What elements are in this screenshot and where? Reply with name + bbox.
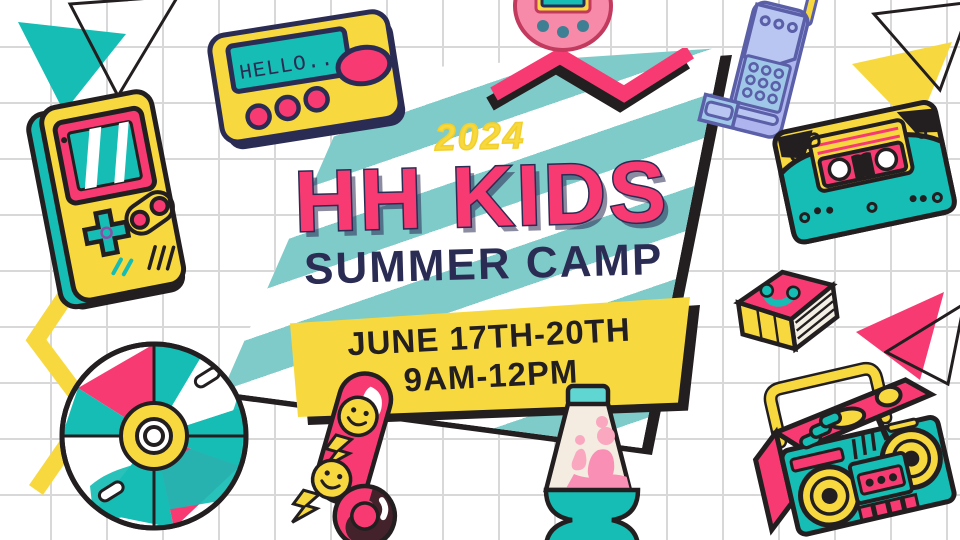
compact-disc: [54, 336, 254, 536]
cassette-tape: [776, 104, 956, 254]
smiley-slap-bracelet: [288, 372, 428, 540]
pager-device: HELLO...: [206, 8, 416, 158]
poster-canvas: 2024 HH KIDS SUMMER CAMP JUNE 17TH-20TH …: [0, 0, 960, 540]
page-title: HH KIDS: [231, 150, 733, 246]
virtual-pet-toy: [508, 0, 618, 64]
outlined-triangle-top-right: [868, 0, 960, 104]
lava-lamp: [532, 378, 652, 540]
boombox-stereo: [740, 342, 960, 540]
handheld-game-console: [18, 88, 208, 318]
